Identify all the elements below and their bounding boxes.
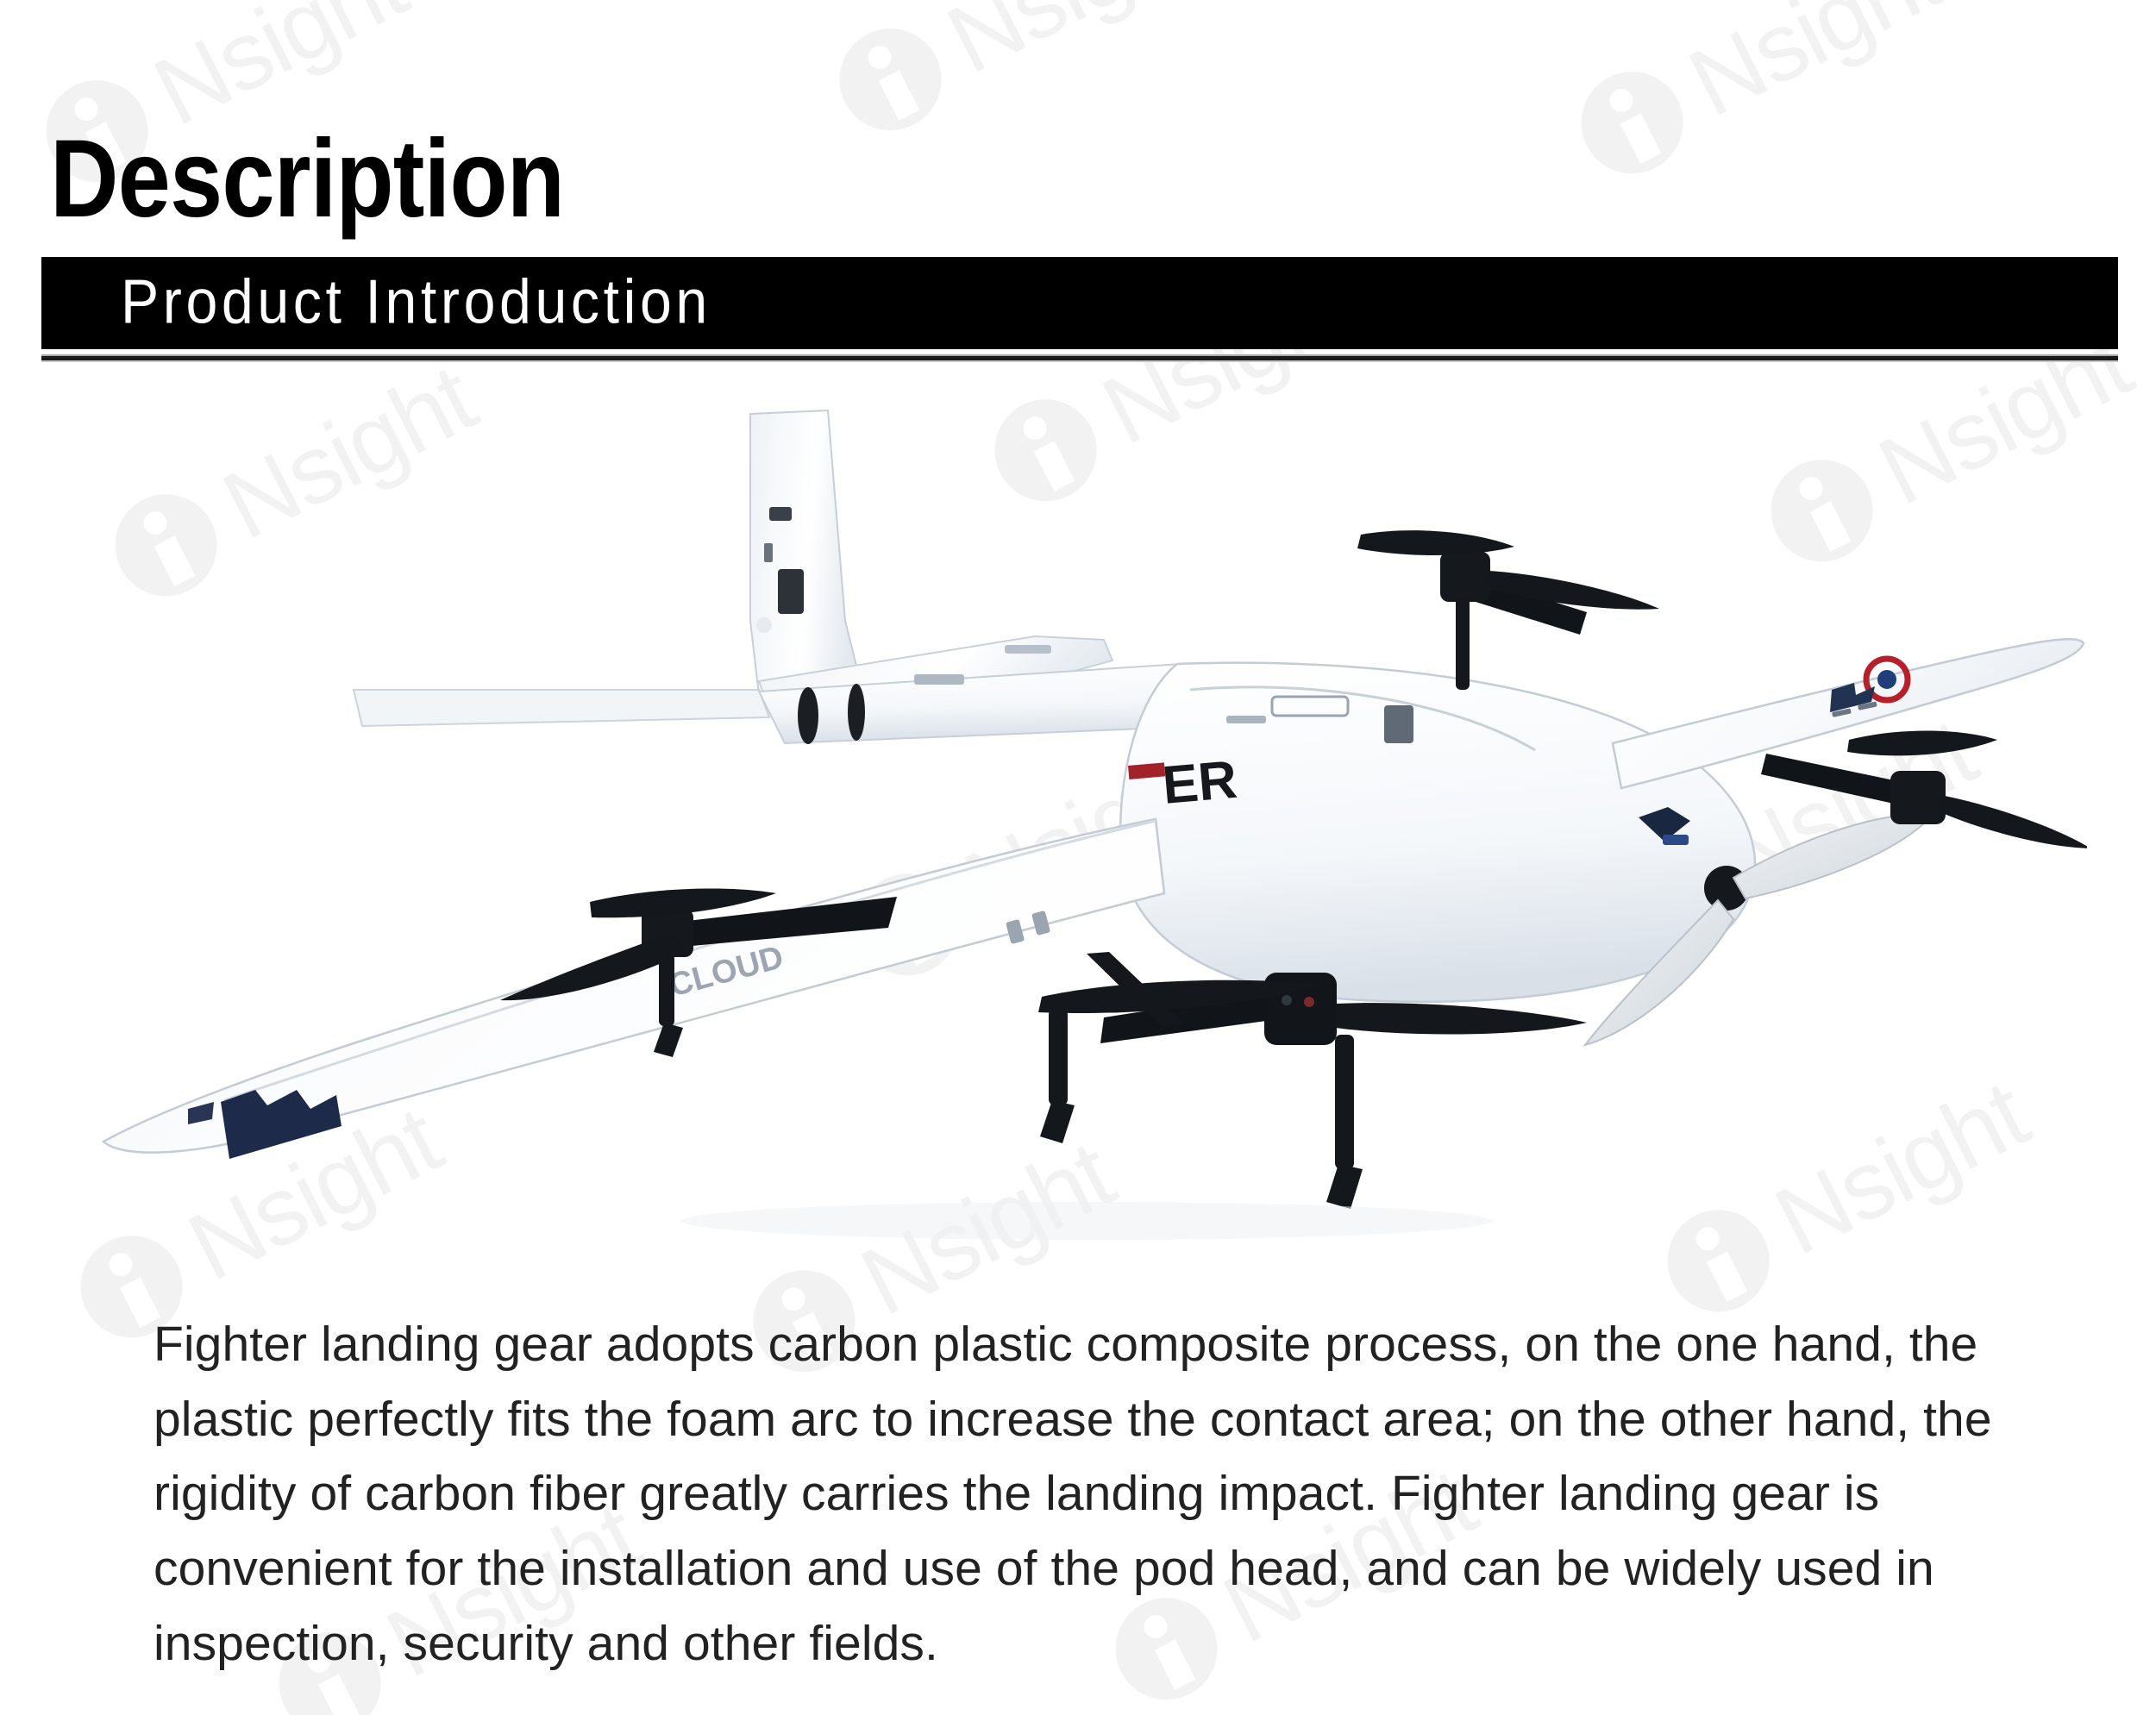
svg-text:ER: ER (1160, 750, 1239, 816)
description-paragraph: Fighter landing gear adopts carbon plast… (154, 1307, 2008, 1681)
page-title: Description (50, 119, 564, 241)
section-banner-label: Product Introduction (121, 266, 711, 337)
section-divider-rule (41, 354, 2118, 362)
product-photo: ER CLOUD (69, 405, 2087, 1267)
description-text: Fighter landing gear adopts carbon plast… (154, 1307, 2008, 1681)
page-root: Description Product Introduction (0, 0, 2156, 1715)
section-banner: Product Introduction (41, 257, 2118, 349)
